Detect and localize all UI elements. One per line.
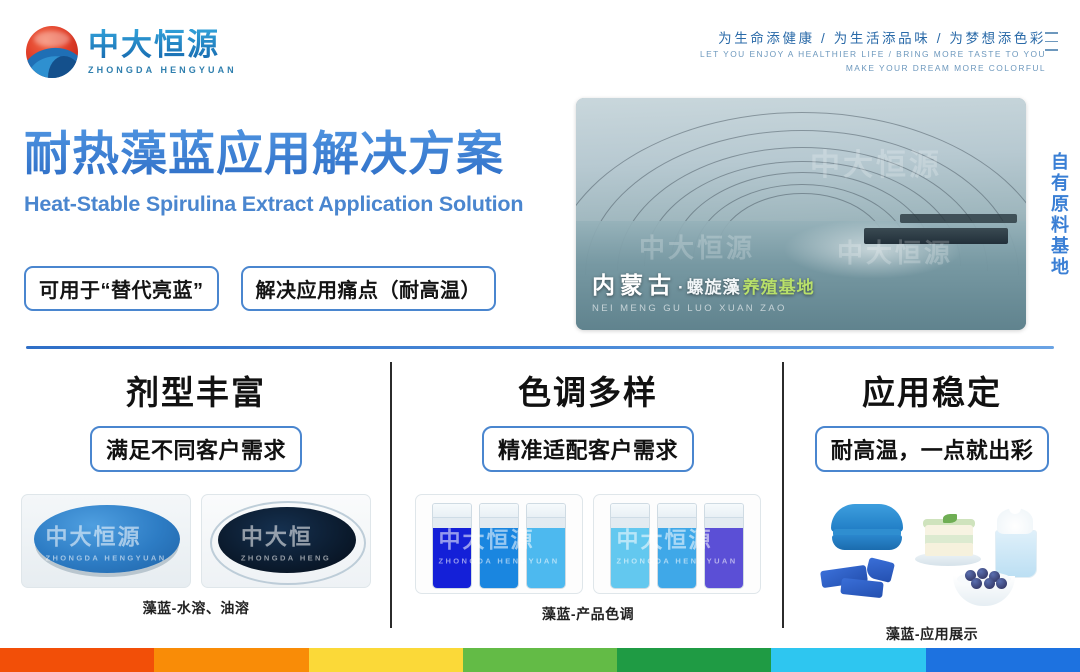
column-1-photos: 中大恒源 ZHONGDA HENGYUAN 中大恒 ZHONGDA HENG: [21, 494, 371, 588]
page-header: 中大恒源 ZHONGDA HENGYUAN 为生命添健康 / 为生活添品味 / …: [0, 0, 1080, 96]
rainbow-segment-4: [463, 648, 617, 672]
column-2-pill[interactable]: 精准适配客户需求: [482, 426, 694, 472]
cake-slice-icon: [925, 520, 973, 556]
vertical-label: 自有原料基地: [1044, 152, 1070, 278]
poster-root: 中大恒源 ZHONGDA HENGYUAN 为生命添健康 / 为生活添品味 / …: [0, 0, 1080, 672]
feature-column-3: 应用稳定 耐高温，一点就出彩: [784, 358, 1080, 642]
rainbow-segment-1: [0, 648, 154, 672]
hero-watermark-2: 中大恒源: [639, 228, 755, 265]
column-1-title: 剂型丰富: [126, 366, 266, 414]
column-1-caption: 藻蓝-水溶、油溶: [143, 598, 250, 618]
hero-caption-product: 螺旋藻: [687, 273, 741, 298]
rainbow-segment-3: [309, 648, 463, 672]
blue-food-applications-photo: [807, 494, 1057, 614]
blue-candy-icon: [865, 557, 895, 583]
hero-caption-dot: ·: [678, 278, 685, 298]
column-2-caption: 藻蓝-产品色调: [542, 604, 634, 624]
vial-3: [432, 503, 472, 589]
rainbow-segment-6: [771, 648, 925, 672]
rainbow-segment-7: [926, 648, 1080, 672]
hero-caption-pinyin: NEI MENG GU LUO XUAN ZAO: [592, 303, 815, 314]
hero-watermark-3: 中大恒源: [837, 233, 953, 270]
tagline-en-line1: LET YOU ENJOY A HEALTHIER LIFE / BRING M…: [700, 48, 1046, 61]
feature-column-1: 剂型丰富 满足不同客户需求 中大恒源 ZHONGDA HENGYUAN 中大恒 …: [0, 358, 392, 642]
column-2-photos: 中大恒源 ZHONGDA HENGYUAN 中大恒源 ZHONGDA HENGY…: [415, 494, 761, 594]
hero-watermark-1: 中大恒源: [810, 140, 942, 184]
blue-powder-dish-photo: 中大恒源 ZHONGDA HENGYUAN: [21, 494, 191, 588]
brand-name-cn: 中大恒源: [88, 29, 237, 62]
vial-3: [610, 503, 650, 589]
brand-logo[interactable]: 中大恒源 ZHONGDA HENGYUAN: [26, 26, 237, 78]
hero-caption-base: 养殖基地: [743, 273, 815, 298]
column-3-title: 应用稳定: [862, 366, 1002, 414]
blue-shade-vials-left-photo: 中大恒源 ZHONGDA HENGYUAN: [415, 494, 583, 594]
column-3-caption: 藻蓝-应用展示: [886, 624, 978, 644]
column-3-pill[interactable]: 耐高温，一点就出彩: [815, 426, 1050, 472]
rainbow-segment-2: [154, 648, 308, 672]
section-divider: [26, 346, 1054, 349]
feature-column-2: 色调多样 精准适配客户需求 中大恒源 ZHONGDA HENGYUAN 中大恒源…: [392, 358, 784, 642]
hero-pill-2[interactable]: 解决应用痛点（耐高温）: [241, 266, 497, 311]
hero-caption-region: 内蒙古: [592, 266, 676, 300]
tagline-en-line2: MAKE YOUR DREAM MORE COLORFUL: [700, 62, 1046, 75]
vial-2: [479, 503, 519, 589]
sun-wave-logo-icon: [26, 26, 78, 78]
column-2-title: 色调多样: [518, 366, 658, 414]
page-subtitle: Heat-Stable Spirulina Extract Applicatio…: [24, 192, 569, 217]
page-title: 耐热藻蓝应用解决方案: [24, 128, 569, 180]
brand-tagline: 为生命添健康 / 为生活添品味 / 为梦想添色彩 LET YOU ENJOY A…: [700, 30, 1046, 75]
column-3-photos: [807, 494, 1057, 614]
feature-columns: 剂型丰富 满足不同客户需求 中大恒源 ZHONGDA HENGYUAN 中大恒 …: [0, 358, 1080, 642]
hero-pill-1[interactable]: 可用于“替代亮蓝”: [24, 266, 219, 311]
rainbow-footer-bar: [0, 648, 1080, 672]
tagline-cn: 为生命添健康 / 为生活添品味 / 为梦想添色彩: [700, 30, 1046, 48]
blue-shade-vials-right-photo: 中大恒源 ZHONGDA HENGYUAN: [593, 494, 761, 594]
tagline-bars-icon: [1045, 32, 1058, 51]
blueberry-yogurt-bowl-icon: [953, 566, 1015, 606]
hero-image: 中大恒源 中大恒源 中大恒源 内蒙古 · 螺旋藻 养殖基地 NEI MENG G…: [576, 98, 1026, 330]
vial-2: [657, 503, 697, 589]
dark-blue-liquid-photo: 中大恒 ZHONGDA HENG: [201, 494, 371, 588]
vial-1: [704, 503, 744, 589]
blue-candy-icon: [840, 578, 883, 598]
hero-pill-row: 可用于“替代亮蓝” 解决应用痛点（耐高温）: [24, 266, 496, 311]
hero-title-block: 耐热藻蓝应用解决方案 Heat-Stable Spirulina Extract…: [24, 128, 569, 217]
vial-1: [526, 503, 566, 589]
rainbow-segment-5: [617, 648, 771, 672]
column-1-pill[interactable]: 满足不同客户需求: [90, 426, 302, 472]
brand-name-en: ZHONGDA HENGYUAN: [88, 65, 237, 75]
hero-image-caption: 内蒙古 · 螺旋藻 养殖基地 NEI MENG GU LUO XUAN ZAO: [592, 266, 815, 314]
blue-macaron-icon: [831, 504, 903, 550]
